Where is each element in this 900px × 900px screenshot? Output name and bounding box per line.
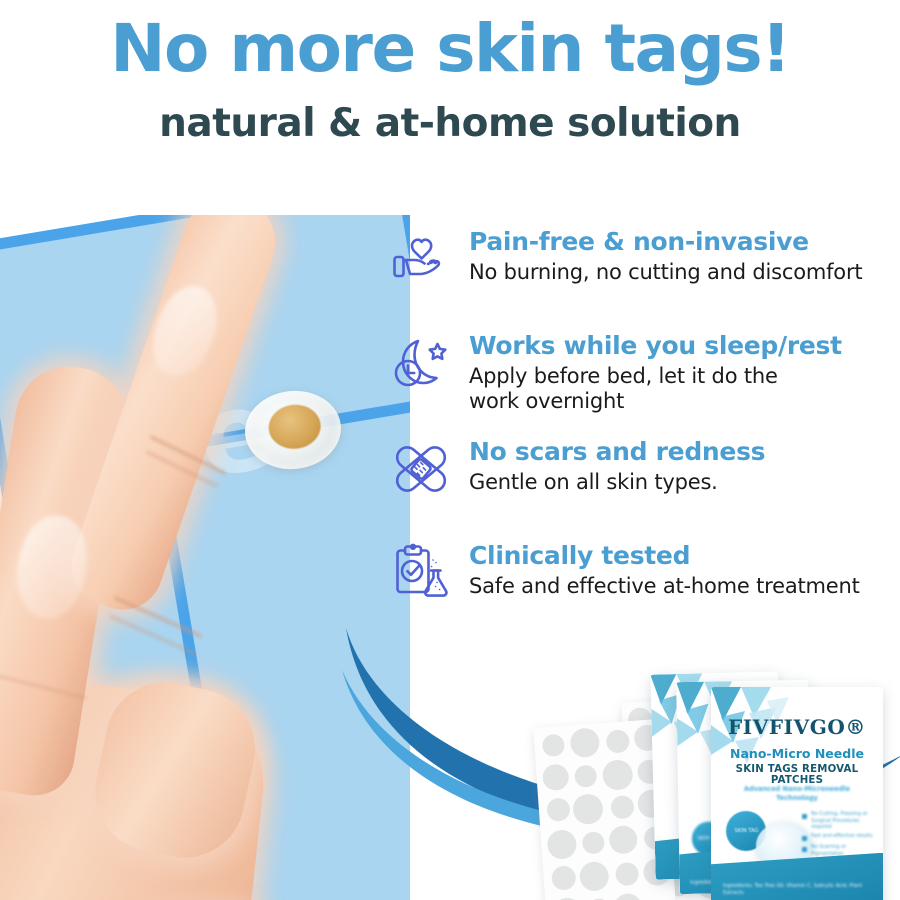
product-box-front: FIVFIVGO® Nano-Micro Needle SKIN TAGS RE… — [711, 687, 883, 900]
feature-text: No scars and redness Gentle on all skin … — [459, 432, 765, 495]
feature-item: No scars and redness Gentle on all skin … — [385, 432, 885, 536]
feature-desc: Gentle on all skin types. — [469, 470, 765, 496]
box-bullet-list: No Cutting, Freezing or Surgical Procedu… — [802, 811, 878, 860]
feature-desc: Apply before bed, let it do the work ove… — [469, 364, 842, 415]
feature-item: Pain-free & non-invasive No burning, no … — [385, 222, 885, 326]
hand-heart-icon — [385, 222, 459, 296]
feature-title: Works while you sleep/rest — [469, 332, 842, 360]
feature-desc: Safe and effective at-home treatment — [469, 574, 860, 600]
hand-illustration — [0, 215, 380, 900]
box-bullet: No Cutting, Freezing or Surgical Procedu… — [802, 811, 878, 830]
feature-title: Clinically tested — [469, 542, 860, 570]
box-line3: SKIN TAGS REMOVAL PATCHES — [711, 764, 883, 786]
feature-text: Pain-free & non-invasive No burning, no … — [459, 222, 862, 285]
feature-title: No scars and redness — [469, 438, 765, 466]
feature-text: Clinically tested Safe and effective at-… — [459, 536, 860, 599]
box-line4: Advanced Nano-Microneedle Technology — [711, 785, 883, 803]
feature-text: Works while you sleep/rest Apply before … — [459, 326, 842, 415]
box-bullet: Fast and effective results — [802, 833, 878, 841]
box-brand: FIVFIVGO® — [711, 715, 883, 739]
crossed-bandages-icon — [385, 432, 459, 506]
finger-crease — [113, 596, 202, 639]
box-bullet-text: No Cutting, Freezing or Surgical Procedu… — [811, 811, 878, 830]
clipboard-check-flask-icon — [385, 536, 459, 610]
page-subtitle: natural & at-home solution — [0, 104, 900, 143]
feature-item: Works while you sleep/rest Apply before … — [385, 326, 885, 432]
feature-list: Pain-free & non-invasive No burning, no … — [385, 222, 885, 640]
box-bullet-text: Fast and effective results — [811, 833, 872, 839]
feature-title: Pain-free & non-invasive — [469, 228, 862, 256]
feature-desc: No burning, no cutting and discomfort — [469, 260, 862, 286]
box-ingredients: Ingredients: Tea Tree Oil, Vitamin C, Sa… — [723, 883, 871, 897]
box-line2: Nano-Micro Needle — [711, 746, 883, 761]
page-title: No more skin tags! — [0, 16, 900, 82]
patch-active-core — [267, 402, 323, 451]
moon-clock-star-icon — [385, 326, 459, 400]
ad-canvas: No more skin tags! natural & at-home sol… — [0, 0, 900, 900]
finger-crease — [109, 614, 197, 656]
product-packaging: FIV Nano SKIN TAG FIV Nano SKIN TAG Adva… — [515, 665, 900, 900]
